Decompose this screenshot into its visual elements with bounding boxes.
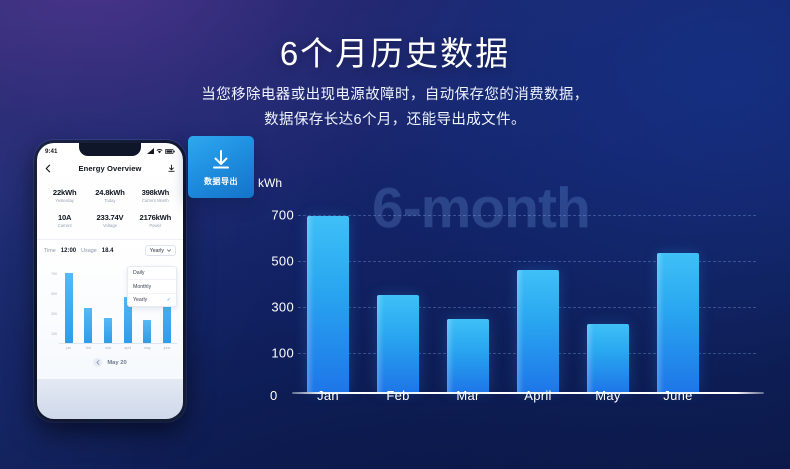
data-export-button[interactable]: 数据导出 <box>188 136 254 198</box>
stat-power: 2176kWh Power <box>133 210 178 231</box>
phone-usage-panel: Time 12:00 Usage 18.4 Yearly Daily <box>37 239 183 379</box>
stat-value: 233.74V <box>87 213 132 222</box>
phone-pager[interactable]: May 20 <box>37 358 183 367</box>
stat-row: 10A Current 233.74V Voltage 2176kWh Powe… <box>42 210 178 231</box>
stat-value: 22kWh <box>42 188 87 197</box>
option-label: Monthly <box>133 284 151 290</box>
period-dropdown-value: Yearly <box>150 248 164 254</box>
time-label: Time <box>44 248 56 254</box>
subtitle-line-1: 当您移除电器或出现电源故障时，自动保存您的消费数据， <box>0 83 790 108</box>
x-tick-label: June <box>663 388 692 403</box>
stat-label: Current Month <box>133 198 178 203</box>
page-subtitle: 当您移除电器或出现电源故障时，自动保存您的消费数据， 数据保存长达6个月，还能导… <box>0 83 790 133</box>
mini-chart-bar <box>84 308 92 343</box>
mini-x-tick: mar <box>101 346 115 354</box>
chart-bar <box>377 295 419 392</box>
stat-value: 2176kWh <box>133 213 178 222</box>
chevron-down-icon <box>167 249 171 252</box>
chevron-left-icon[interactable] <box>93 358 102 367</box>
chart-bar <box>587 324 629 392</box>
period-dropdown-menu[interactable]: Daily Monthly Yearly ✓ <box>127 266 177 307</box>
stat-label: Yesterday <box>42 198 87 203</box>
dropdown-option-monthly[interactable]: Monthly <box>128 280 176 293</box>
y-tick-label: 100 <box>271 346 294 361</box>
stat-value: 398kWh <box>133 188 178 197</box>
x-tick-label: April <box>524 388 552 403</box>
phone-screen-title: Energy Overview <box>78 164 141 173</box>
stat-voltage: 233.74V Voltage <box>87 210 132 231</box>
chart-bar <box>517 270 559 392</box>
status-time: 9:41 <box>45 148 57 155</box>
mini-y-tick: 100 <box>51 332 57 336</box>
dropdown-option-yearly[interactable]: Yearly ✓ <box>128 294 176 306</box>
panel-header: Time 12:00 Usage 18.4 Yearly <box>37 240 183 258</box>
period-dropdown[interactable]: Yearly <box>145 245 176 256</box>
stat-label: Power <box>133 223 178 228</box>
wifi-icon <box>156 148 163 154</box>
phone-stats: 22kWh Yesterday 24.8kWh Today 398kWh Cur… <box>37 181 183 233</box>
y-tick-label: 700 <box>271 208 294 223</box>
mini-chart-bar <box>65 273 73 343</box>
gridline <box>298 215 756 216</box>
mini-x-tick: jan <box>62 346 76 354</box>
stat-current-month: 398kWh Current Month <box>133 185 178 206</box>
data-export-label: 数据导出 <box>204 176 238 187</box>
chart-x-axis-labels: JanFebMarAprilMayJune <box>298 388 770 408</box>
stat-today: 24.8kWh Today <box>87 185 132 206</box>
phone-statusbar: 9:41 <box>37 145 183 157</box>
mini-x-tick: may <box>140 346 154 354</box>
option-label: Yearly <box>133 297 147 303</box>
y-tick-label: 500 <box>271 254 294 269</box>
back-arrow-icon[interactable] <box>44 164 53 173</box>
mini-x-tick: feb <box>81 346 95 354</box>
x-tick-label: Feb <box>386 388 409 403</box>
x-tick-label: May <box>595 388 620 403</box>
pager-label: May 20 <box>107 360 126 366</box>
chart-zero-label: 0 <box>270 388 277 403</box>
usage-label: Usage <box>81 248 97 254</box>
chart-bar <box>657 253 699 392</box>
page-title: 6个月历史数据 <box>0 27 790 75</box>
check-icon: ✓ <box>167 297 171 303</box>
mini-chart-bar <box>104 318 112 343</box>
phone-navbar: Energy Overview <box>37 159 183 177</box>
signal-icon <box>147 148 154 154</box>
stat-yesterday: 22kWh Yesterday <box>42 185 87 206</box>
battery-icon <box>165 149 175 154</box>
mini-x-tick: april <box>121 346 135 354</box>
time-value: 12:00 <box>61 248 76 254</box>
mini-y-tick: 500 <box>51 292 57 296</box>
phone-screen: 9:41 Energy Overview 22kWh <box>37 143 183 419</box>
stat-value: 10A <box>42 213 87 222</box>
usage-value: 18.4 <box>102 248 114 254</box>
stat-value: 24.8kWh <box>87 188 132 197</box>
chart-bar <box>447 319 489 392</box>
x-tick-label: Mar <box>456 388 479 403</box>
mini-y-tick: 700 <box>51 272 57 276</box>
option-label: Daily <box>133 270 145 276</box>
phone-mockup: 9:41 Energy Overview 22kWh <box>22 136 200 426</box>
promo-banner: 6个月历史数据 当您移除电器或出现电源故障时，自动保存您的消费数据， 数据保存长… <box>0 0 790 469</box>
y-tick-label: 300 <box>271 300 294 315</box>
chart-bar <box>307 216 349 392</box>
dropdown-option-daily[interactable]: Daily <box>128 267 176 280</box>
x-tick-label: Jan <box>317 388 339 403</box>
mini-chart-y-axis: 700500300100 <box>45 266 57 344</box>
download-icon[interactable] <box>167 164 176 173</box>
status-icons <box>147 148 175 154</box>
mini-y-tick: 300 <box>51 312 57 316</box>
stat-current: 10A Current <box>42 210 87 231</box>
phone-frame: 9:41 Energy Overview 22kWh <box>34 140 186 422</box>
history-bar-chart: kWh 700500300100 JanFebMarAprilMayJune 0 <box>250 176 770 426</box>
stat-label: Current <box>42 223 87 228</box>
mini-chart-bar <box>143 320 151 343</box>
stat-label: Voltage <box>87 223 132 228</box>
stat-label: Today <box>87 198 132 203</box>
mini-x-tick: june <box>160 346 174 354</box>
stat-row: 22kWh Yesterday 24.8kWh Today 398kWh Cur… <box>42 185 178 206</box>
mini-chart-x-axis: janfebmaraprilmayjune <box>59 346 177 354</box>
download-icon <box>209 148 233 172</box>
